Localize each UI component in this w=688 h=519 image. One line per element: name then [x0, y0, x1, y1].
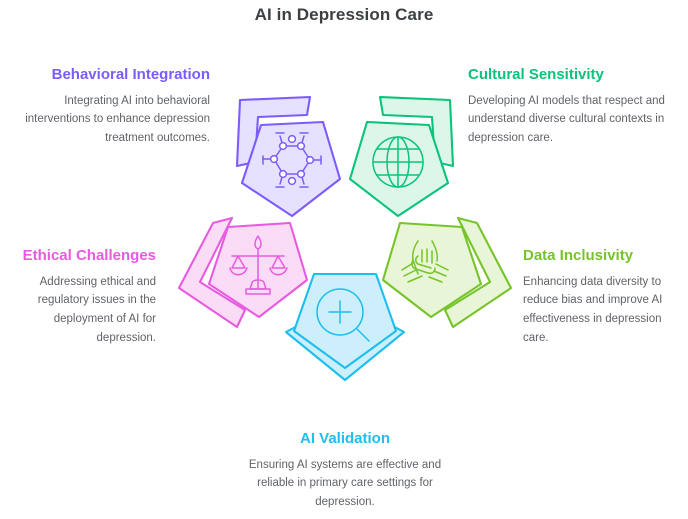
node-heading-ai-validation: AI Validation: [229, 430, 461, 449]
node-icon-behavioral-integration[interactable]: [237, 97, 340, 216]
node-text-ai-validation: AI Validation Ensuring AI systems are ef…: [229, 430, 461, 512]
pentagon-frame-validation: [294, 274, 396, 368]
node-icon-data-inclusivity[interactable]: [383, 218, 511, 327]
node-heading-ethical-challenges: Ethical Challenges: [8, 247, 156, 266]
node-body-ethical-challenges: Addressing ethical and regulatory issues…: [8, 273, 156, 348]
node-heading-behavioral-integration: Behavioral Integration: [18, 66, 210, 85]
node-icon-ai-validation[interactable]: [286, 274, 404, 380]
node-icon-cultural-sensitivity[interactable]: [350, 97, 453, 216]
node-heading-data-inclusivity: Data Inclusivity: [523, 247, 683, 266]
node-icon-ethical-challenges[interactable]: [179, 218, 307, 327]
pentagon-frame-cultural: [350, 122, 448, 216]
globe-icon: [373, 137, 423, 187]
icon-cluster: [170, 84, 520, 416]
node-text-data-inclusivity: Data Inclusivity Enhancing data diversit…: [523, 247, 683, 347]
node-body-ai-validation: Ensuring AI systems are effective and re…: [229, 456, 461, 512]
node-heading-cultural-sensitivity: Cultural Sensitivity: [468, 66, 668, 85]
node-text-ethical-challenges: Ethical Challenges Addressing ethical an…: [8, 247, 156, 347]
page-title: AI in Depression Care: [0, 5, 688, 25]
infographic-canvas: AI in Depression Care Behavioral Integra…: [0, 0, 688, 519]
node-body-data-inclusivity: Enhancing data diversity to reduce bias …: [523, 273, 683, 348]
